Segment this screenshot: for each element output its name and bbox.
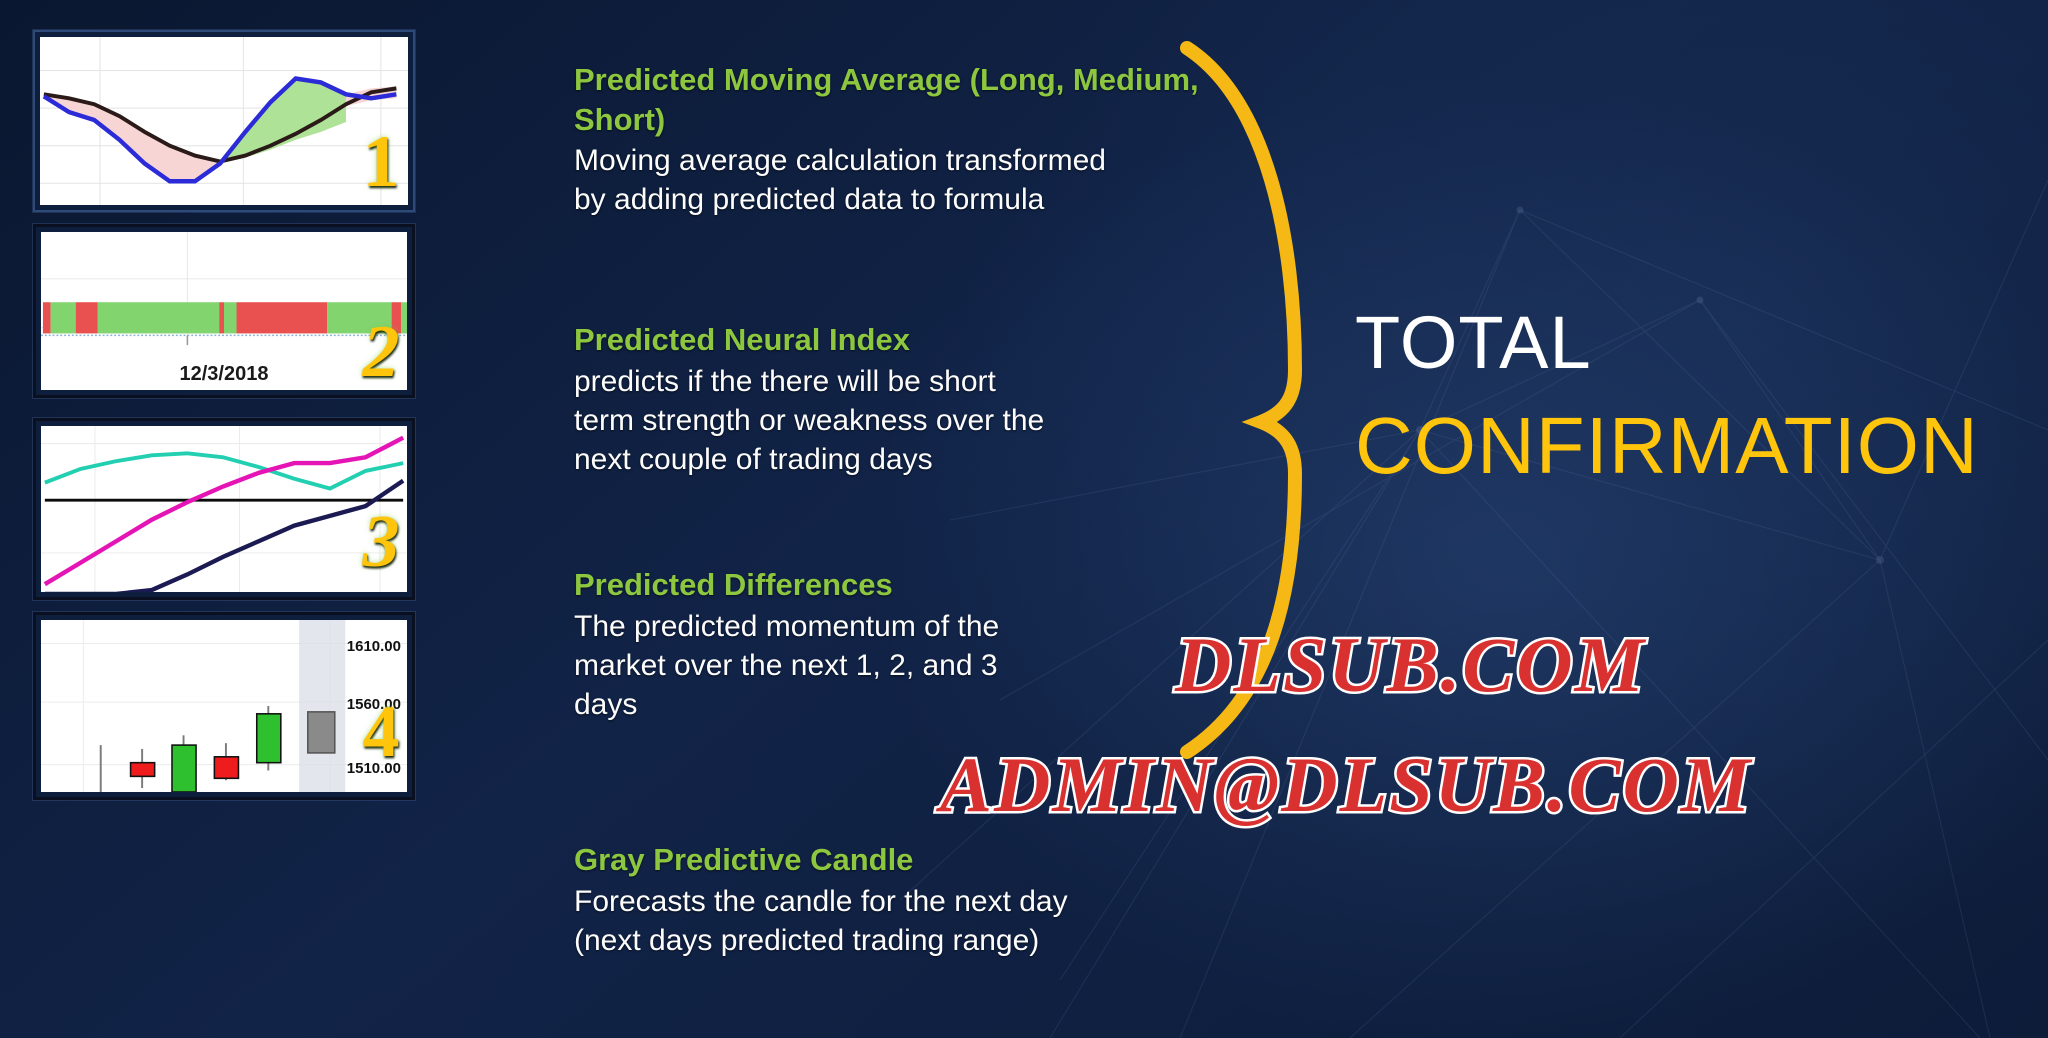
feature-body-2: predicts if the there will be short term…	[574, 362, 1274, 479]
callout-confirmation: CONFIRMATION	[1355, 400, 1979, 492]
step-number-3: 3	[345, 500, 417, 585]
feature-body-4: Forecasts the candle for the next day (n…	[574, 882, 1274, 960]
feature-body-1-line-2: by adding predicted data to formula	[574, 180, 1274, 219]
candle-up	[257, 706, 281, 771]
feature-heading-1: Predicted Moving Average (Long, Medium, …	[574, 60, 1274, 139]
step-number-4: 4	[345, 690, 417, 775]
feature-body-2-line-2: term strength or weakness over the	[574, 401, 1274, 440]
feature-heading-4: Gray Predictive Candle	[574, 840, 1274, 880]
infographic-root: 1	[0, 0, 2048, 1038]
candle-down	[214, 743, 238, 780]
candle-up	[172, 735, 196, 792]
feature-block-4: Gray Predictive Candle Forecasts the can…	[574, 840, 1274, 960]
feature-block-2: Predicted Neural Index predicts if the t…	[574, 320, 1274, 479]
feature-block-3: Predicted Differences The predicted mome…	[574, 565, 1274, 724]
step-number-1: 1	[345, 120, 417, 205]
feature-body-1: Moving average calculation transformed b…	[574, 141, 1274, 219]
feature-body-4-line-1: Forecasts the candle for the next day	[574, 882, 1274, 921]
bearish-fill-area	[44, 94, 220, 181]
feature-body-3: The predicted momentum of the market ove…	[574, 607, 1274, 724]
feature-body-3-line-1: The predicted momentum of the	[574, 607, 1274, 646]
step-number-2: 2	[345, 310, 417, 395]
feature-body-2-line-3: next couple of trading days	[574, 440, 1274, 479]
candle-down	[131, 749, 155, 788]
feature-block-1: Predicted Moving Average (Long, Medium, …	[574, 60, 1274, 219]
watermark-site: DLSUB.COM	[1175, 620, 1646, 710]
feature-body-4-line-2: (next days predicted trading range)	[574, 921, 1274, 960]
feature-body-3-line-2: market over the next 1, 2, and 3	[574, 646, 1274, 685]
feature-body-1-line-1: Moving average calculation transformed	[574, 141, 1274, 180]
callout-total: TOTAL	[1355, 300, 1592, 385]
watermark-email: ADMIN@DLSUB.COM	[940, 740, 1752, 830]
y-tick-1610: 1610.00	[347, 638, 401, 655]
feature-body-3-line-3: days	[574, 685, 1274, 724]
predicted-ma-line	[44, 79, 397, 182]
feature-heading-2: Predicted Neural Index	[574, 320, 1274, 360]
feature-heading-3: Predicted Differences	[574, 565, 1274, 605]
feature-body-2-line-1: predicts if the there will be short	[574, 362, 1274, 401]
